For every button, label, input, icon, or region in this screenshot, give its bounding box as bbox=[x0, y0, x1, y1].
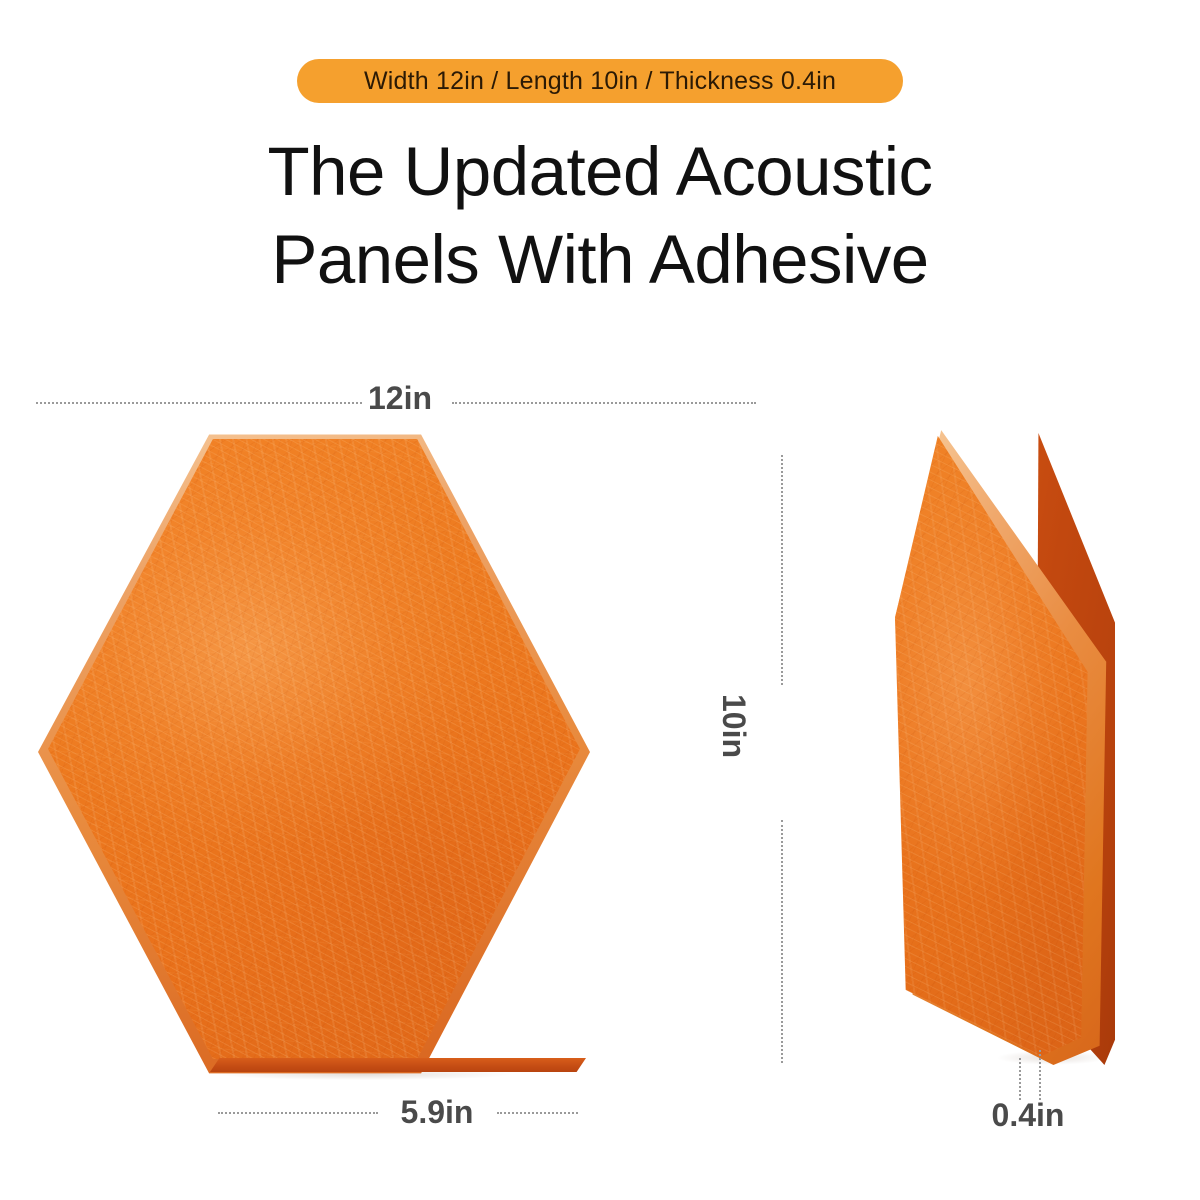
felt-texture bbox=[48, 439, 580, 1059]
hexagon-panel-face bbox=[48, 439, 580, 1059]
height-guide-line-top bbox=[781, 455, 783, 685]
side-length-dimension-label: 5.9in bbox=[401, 1094, 474, 1131]
page-title: The Updated Acoustic Panels With Adhesiv… bbox=[0, 128, 1200, 304]
hexagon-panel-bottom-edge bbox=[210, 1058, 586, 1072]
spec-badge: Width 12in / Length 10in / Thickness 0.4… bbox=[297, 59, 903, 103]
thickness-dimension-label: 0.4in bbox=[992, 1097, 1065, 1134]
height-dimension-label: 10in bbox=[715, 694, 752, 758]
title-line-2: Panels With Adhesive bbox=[0, 216, 1200, 304]
thickness-guide-line-left bbox=[1019, 1058, 1021, 1100]
width-guide-line-right bbox=[452, 402, 756, 404]
title-line-1: The Updated Acoustic bbox=[0, 128, 1200, 216]
side-length-guide-line-right bbox=[497, 1112, 578, 1114]
width-dimension-label: 12in bbox=[368, 380, 432, 417]
product-infographic: Width 12in / Length 10in / Thickness 0.4… bbox=[0, 0, 1200, 1200]
side-length-guide-line-left bbox=[218, 1112, 378, 1114]
thickness-guide-line-right bbox=[1039, 1050, 1041, 1100]
height-guide-line-bottom bbox=[781, 820, 783, 1063]
hexagon-panel-side-view bbox=[895, 425, 1115, 1065]
width-guide-line-left bbox=[36, 402, 362, 404]
hexagon-panel-front-view bbox=[38, 428, 590, 1076]
